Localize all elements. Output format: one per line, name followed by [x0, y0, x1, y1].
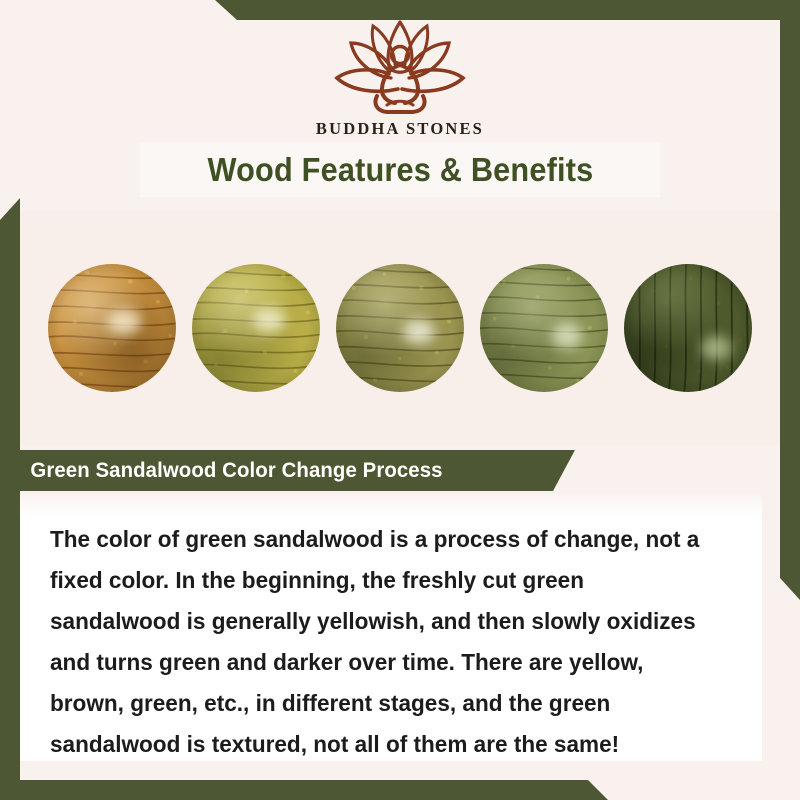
bead-shading [480, 264, 608, 392]
bead-shading [336, 264, 464, 392]
bead-highlight [253, 308, 285, 332]
bead-highlight [552, 323, 582, 349]
section-banner-label: Green Sandalwood Color Change Process [30, 459, 442, 483]
frame-bottom-bar [0, 780, 800, 800]
bead-stage-3 [336, 264, 464, 392]
bead-highlight [107, 310, 141, 334]
body-card: The color of green sandalwood is a proce… [20, 491, 762, 761]
page-title: Wood Features & Benefits [207, 151, 593, 189]
body-card-fade [20, 491, 762, 517]
bead-highlight [701, 336, 731, 360]
bead-stage-5 [624, 264, 752, 392]
bead-stage-4 [480, 264, 608, 392]
lotus-meditation-icon [315, 12, 485, 117]
bead-shading [192, 264, 320, 392]
frame-left-bar [0, 198, 20, 800]
brand-logo: BUDDHA STONES [0, 12, 800, 139]
bead-highlight [403, 320, 435, 344]
bead-stage-2 [192, 264, 320, 392]
section-banner: Green Sandalwood Color Change Process [0, 450, 575, 491]
poster-root: BUDDHA STONES Wood Features & Benefits [0, 0, 800, 800]
title-ribbon: Wood Features & Benefits [140, 142, 660, 197]
bead-row [20, 258, 780, 398]
bead-stage-1 [48, 264, 176, 392]
bead-shading [624, 264, 752, 392]
brand-wordmark: BUDDHA STONES [0, 119, 800, 139]
body-paragraph: The color of green sandalwood is a proce… [50, 519, 712, 765]
bead-showcase [20, 210, 780, 445]
